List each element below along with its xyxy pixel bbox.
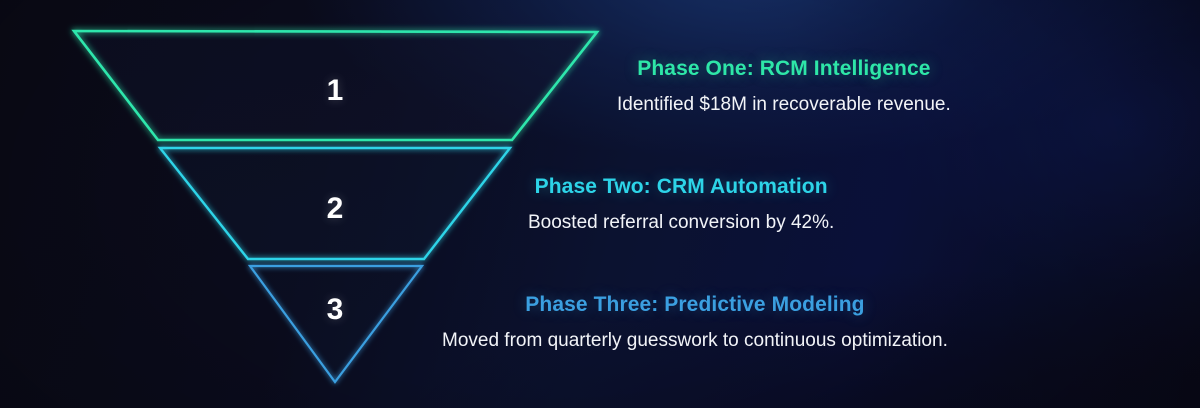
funnel-infographic: 1 2 3 Phase One: RCM Intelligence Identi… [0,0,1200,408]
phase-two-description: Boosted referral conversion by 42%. [528,211,834,235]
phase-one-title: Phase One: RCM Intelligence [617,56,951,81]
phase-two-title: Phase Two: CRM Automation [528,174,834,199]
funnel-step-number-1: 1 [305,76,365,106]
phase-block-two: Phase Two: CRM Automation Boosted referr… [528,174,834,235]
phase-three-description: Moved from quarterly guesswork to contin… [442,329,948,353]
phase-block-one: Phase One: RCM Intelligence Identified $… [617,56,951,117]
phase-one-description: Identified $18M in recoverable revenue. [617,93,951,117]
phase-block-three: Phase Three: Predictive Modeling Moved f… [442,292,948,353]
funnel-step-number-3: 3 [305,295,365,325]
phase-three-title: Phase Three: Predictive Modeling [442,292,948,317]
funnel-step-number-2: 2 [305,194,365,224]
